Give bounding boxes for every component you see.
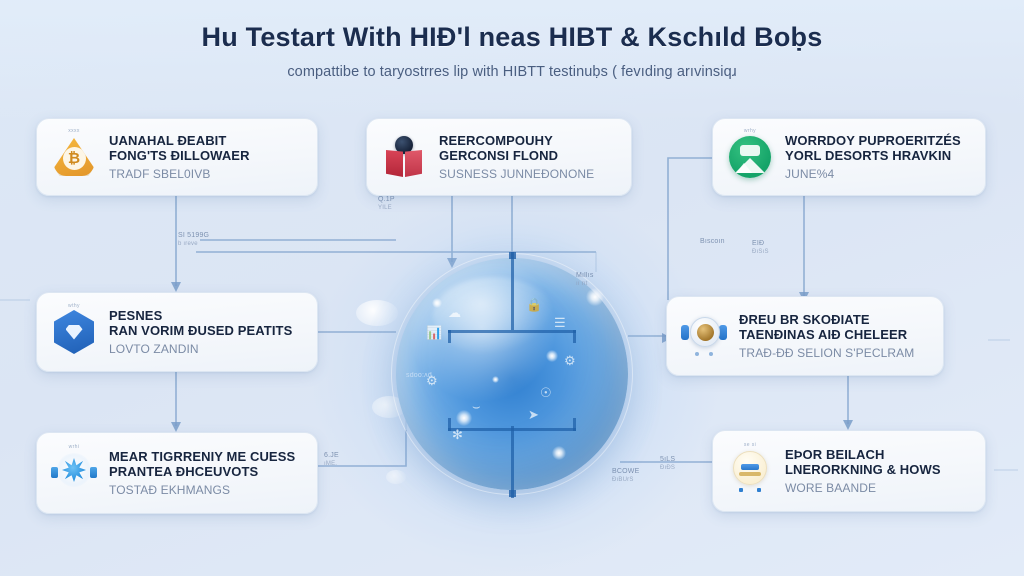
connector-label: SI 5199G b ıreve — [178, 232, 209, 248]
sphere-glyph-gear: ⚙ — [564, 354, 576, 367]
connector-label-line1: Q.1P — [378, 196, 395, 203]
cream-disc-pin-left — [739, 488, 743, 492]
connector-label-line1: Bıscoın — [700, 238, 725, 245]
card-text: UANAHAL ÐEABIT FONG'TS ÐILLOWAER TRADF S… — [109, 133, 250, 182]
connector-label: sdoo:ʌƌ — [406, 372, 432, 381]
connector-label-line1: Mıllıs — [576, 272, 594, 279]
gem-shape — [66, 325, 83, 340]
card-text: ÐREU BR SKOÐIATE TAENÐINAS AIÐ CHELEER T… — [739, 312, 914, 361]
card-title-line1: PESNES — [109, 308, 292, 324]
medallion-pip-right — [709, 352, 713, 356]
sphere-spark-6 — [432, 298, 442, 308]
connector-label: Mıllıs ıı rıt — [576, 272, 594, 288]
info-card-starburst[interactable]: wrhi MEAR TIGRRENIY ME CUESS PRANTEA ÐHC… — [36, 432, 318, 514]
card-title-line2: LNERORKNING & HOWS — [785, 462, 941, 478]
card-text: WORRDOY PUPROERITZÉS YORL DESORTS HRAVKI… — [785, 133, 961, 182]
connector-label-line1: 6.JE — [324, 452, 339, 459]
book-shape — [384, 136, 424, 178]
bracket-corner-tr — [573, 330, 576, 343]
starburst-core — [62, 458, 86, 482]
card-subtitle: JUNE%4 — [785, 167, 961, 181]
icon-tick-label: xxxx — [68, 128, 80, 134]
page-title: Hu Testart With HIÐ'l neas HIBT & Kschıl… — [0, 22, 1024, 53]
sphere-spark-2 — [546, 350, 558, 362]
bracket-cap-bottom — [509, 490, 516, 497]
brass-medallion-icon — [681, 313, 727, 359]
connector-label: 6.JE ıME. — [324, 452, 339, 468]
card-text: PESNES RAN VORIM ÐUSED PEATITS LOVTO ZAN… — [109, 308, 292, 357]
info-card-medallion[interactable]: ÐREU BR SKOÐIATE TAENÐINAS AIÐ CHELEER T… — [666, 296, 944, 376]
badge-chip — [740, 145, 760, 156]
cream-disc-slab — [741, 464, 759, 470]
cream-disc-pin-right — [757, 488, 761, 492]
card-title-line2: RAN VORIM ÐUSED PEATITS — [109, 323, 292, 339]
card-subtitle: TRADF SBEL0IVB — [109, 167, 250, 181]
card-title-line2: PRANTEA ÐHCEUVOTS — [109, 464, 295, 480]
card-title-line2: YORL DESORTS HRAVKIN — [785, 148, 961, 164]
card-subtitle: WORE BAANDE — [785, 481, 941, 495]
card-subtitle: TOSTAÐ EKHMANGS — [109, 483, 295, 497]
sphere-glyph-globe: ☉ — [540, 386, 552, 399]
bracket-bottom-stem — [511, 426, 514, 498]
card-title-line1: REERCOMPOUHY — [439, 133, 594, 149]
medallion-bar-right — [719, 325, 727, 340]
header: Hu Testart With HIÐ'l neas HIBT & Kschıl… — [0, 22, 1024, 80]
cream-disc-base — [739, 472, 761, 476]
bitcoin-glyph: ₿ — [63, 147, 86, 170]
page-subtitle: compattibe to taryostrres lip with HIBTT… — [0, 64, 1024, 80]
sphere-spark-1 — [456, 410, 472, 426]
book-page-left — [386, 150, 403, 177]
triangle-badge: ₿ — [54, 138, 94, 176]
sphere-glyph-arc: ⌣ — [472, 400, 481, 413]
starburst-shape — [51, 452, 97, 494]
bracket-corner-tl — [448, 330, 451, 343]
sphere-glyph-cursor: ➤ — [528, 408, 539, 421]
info-card-shield[interactable]: wthy PESNES RAN VORIM ÐUSED PEATITS LOVT… — [36, 292, 318, 372]
bracket-corner-bl — [448, 418, 451, 431]
info-card-green-badge[interactable]: wrhy WORRDOY PUPROERITZÉS YORL DESORTS H… — [712, 118, 986, 196]
card-title-line2: FONG'TS ÐILLOWAER — [109, 148, 250, 164]
medallion-core — [697, 324, 714, 341]
connector-label-line2: ÐıÐS — [660, 465, 675, 473]
card-title-line1: WORRDOY PUPROERITZÉS — [785, 133, 961, 149]
cream-disc-shape — [728, 450, 772, 492]
connector-label-line2: ıME. — [324, 461, 339, 469]
sphere-glyph-chart: 📊 — [426, 326, 442, 339]
sphere-glyph-leaf: ✻ — [452, 428, 463, 441]
connector-label-line1: EIÐ — [752, 240, 764, 247]
connector-label-line1: sdoo:ʌƌ — [406, 372, 432, 379]
bracket-bottom-bar — [448, 428, 576, 431]
card-text: REERCOMPOUHY GERCONSI FLOND SUSNESS JUNN… — [439, 133, 594, 182]
card-subtitle: SUSNESS JUNNEÐONONE — [439, 167, 594, 181]
bracket-cap-top — [509, 252, 516, 259]
card-text: MEAR TIGRRENIY ME CUESS PRANTEA ÐHCEUVOT… — [109, 449, 295, 498]
icon-tick-label: se si — [744, 442, 756, 448]
connector-label-line1: BCOWE — [612, 468, 639, 475]
info-card-bitcoin[interactable]: xxxx ₿ UANAHAL ÐEABIT FONG'TS ÐILLOWAER … — [36, 118, 318, 196]
info-card-cream-disc[interactable]: se si EÞOR BEILACH LNERORKNING & HOWS WO… — [712, 430, 986, 512]
card-title-line1: MEAR TIGRRENIY ME CUESS — [109, 449, 295, 465]
starburst-bar-right — [90, 467, 97, 478]
connector-label: BCOWE ÐıBUrS — [612, 468, 639, 484]
bitcoin-shield-icon: xxxx ₿ — [51, 134, 97, 180]
icon-tick-label: wrhy — [744, 128, 756, 134]
connector-label: EIÐ ÐıSıS — [752, 240, 769, 256]
sphere-spark-5 — [552, 446, 566, 460]
sphere-glyph-lock: 🔒 — [526, 298, 542, 311]
sphere-glyph-cloud: ☁ — [448, 306, 461, 319]
bracket-top-stem — [511, 252, 514, 330]
hex-shield-gem-icon: wthy — [51, 309, 97, 355]
blue-starburst-icon: wrhi — [51, 450, 97, 496]
connector-label-line2: YILE — [378, 205, 395, 213]
sphere-spark-3 — [586, 288, 604, 306]
card-subtitle: LOVTO ZANDIN — [109, 342, 292, 356]
open-book-icon — [381, 134, 427, 180]
mountain-large — [735, 158, 765, 173]
icon-tick-label: wthy — [68, 303, 80, 309]
card-title-line1: ÐREU BR SKOÐIATE — [739, 312, 914, 328]
medallion-bar-left — [681, 325, 689, 340]
connector-label: Bıscoın — [700, 238, 725, 247]
sphere-spark-4 — [492, 376, 499, 383]
bracket-top-bar — [448, 330, 576, 333]
connector-label-line2: b ıreve — [178, 241, 209, 249]
icon-tick-label: wrhi — [69, 444, 80, 450]
medallion-shape — [681, 316, 727, 356]
hex-shield — [54, 310, 94, 354]
green-mountain-badge-icon: wrhy — [727, 134, 773, 180]
infographic-canvas: ☁ 📊 🔒 ☰ ⚙ ☉ ➤ ⌣ ✻ ⚙ Hu Testart With HIÐ'… — [0, 0, 1024, 576]
card-text: EÞOR BEILACH LNERORKNING & HOWS WORE BAA… — [785, 447, 941, 496]
connector-label: Q.1P YILE — [378, 196, 395, 212]
connector-label-line2: ÐıBUrS — [612, 477, 639, 485]
book-page-right — [405, 150, 422, 177]
starburst-bar-left — [51, 467, 58, 478]
medallion-pip-left — [695, 352, 699, 356]
green-disc — [729, 136, 771, 178]
info-card-book[interactable]: REERCOMPOUHY GERCONSI FLOND SUSNESS JUNN… — [366, 118, 632, 196]
card-title-line2: TAENÐINAS AIÐ CHELEER — [739, 327, 914, 343]
card-title-line2: GERCONSI FLOND — [439, 148, 594, 164]
medallion-ring — [690, 317, 720, 347]
connector-label-line1: SI 5199G — [178, 232, 209, 239]
sphere-glyph-list: ☰ — [554, 316, 566, 329]
connector-label-line2: ıı rıt — [576, 281, 594, 289]
card-title-line1: UANAHAL ÐEABIT — [109, 133, 250, 149]
cream-disc-icon: se si — [727, 448, 773, 494]
bracket-corner-br — [573, 418, 576, 431]
card-title-line1: EÞOR BEILACH — [785, 447, 941, 463]
card-subtitle: TRAÐ-ÐÐ SELION S'PECLRAM — [739, 346, 914, 360]
connector-label-line2: ÐıSıS — [752, 249, 769, 257]
connector-label: 5ıLS ÐıÐS — [660, 456, 675, 472]
connector-label-line1: 5ıLS — [660, 456, 675, 463]
